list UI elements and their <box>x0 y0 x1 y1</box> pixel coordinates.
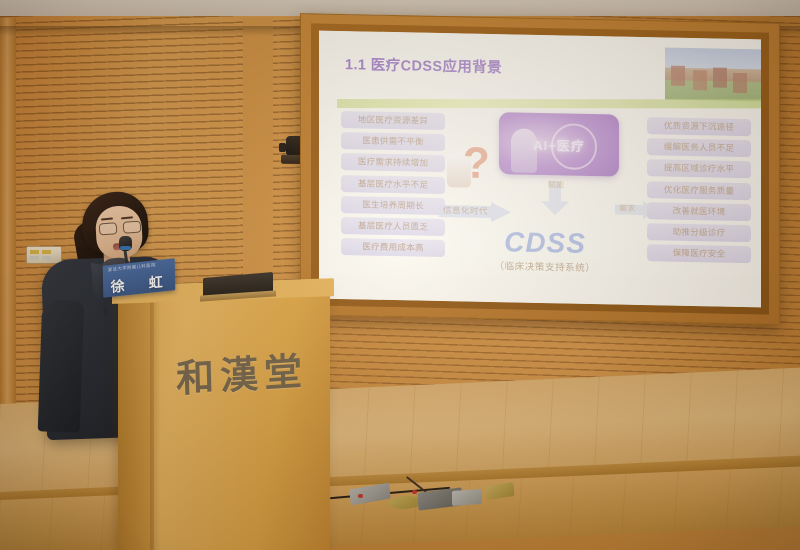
list-item: 基层医疗水平不足 <box>341 175 445 194</box>
microphone-ring <box>120 246 131 250</box>
wall-pillar-left <box>0 18 16 438</box>
list-item: 优化医疗服务质量 <box>647 181 751 200</box>
cdss-subtitle: （临床决策支持系统） <box>445 257 645 275</box>
lecture-hall-photo: 1.1 医疗CDSS应用背景 地区医疗资源差异 医患供需不平衡 医疗需求持续增加… <box>0 0 800 550</box>
arrow-left-label: 信息化时代 <box>443 204 488 217</box>
list-item: 提高区域诊疗水平 <box>647 160 751 179</box>
arrow-left-icon: 信息化时代 <box>439 201 511 222</box>
name-card-affiliation: 复旦大学附属儿科医院 <box>108 262 156 273</box>
projection-screen: 1.1 医疗CDSS应用背景 地区医疗资源差异 医患供需不平衡 医疗需求持续增加… <box>319 31 761 308</box>
speaker-glasses-icon <box>99 221 142 235</box>
list-item: 医患供需不平衡 <box>341 132 445 151</box>
cdss-headline: CDSS <box>445 225 645 261</box>
right-benefit-column: 优质资源下沉途径 缓解医务人员不足 提高区域诊疗水平 优化医疗服务质量 改善就医… <box>647 117 751 267</box>
ai-healthcare-image: AI+医疗 <box>499 112 619 176</box>
lectern-left-face <box>118 296 154 550</box>
presentation-slide: 1.1 医疗CDSS应用背景 地区医疗资源差异 医患供需不平衡 医疗需求持续增加… <box>319 31 761 308</box>
list-item: 地区医疗资源差异 <box>341 111 445 130</box>
left-issue-column: 地区医疗资源差异 医患供需不平衡 医疗需求持续增加 基层医疗水平不足 医生培养周… <box>341 111 445 261</box>
camera-arm-left <box>279 143 286 152</box>
list-item: 改善就医环境 <box>647 202 751 221</box>
hospital-campus-photo <box>665 48 761 102</box>
list-item: 助推分级诊疗 <box>647 223 751 242</box>
list-item: 医生培养周期长 <box>341 196 445 215</box>
lectern-side-shadow <box>150 300 160 550</box>
cable-connector <box>412 490 417 494</box>
venue-calligraphy: 和漢堂 <box>175 340 308 403</box>
wall-outlet-plate <box>26 246 62 264</box>
arrow-down-label: 赋能 <box>539 179 573 191</box>
cable-connector <box>358 494 363 498</box>
floor-equipment-plate <box>452 489 482 506</box>
ai-healthcare-label: AI+医疗 <box>499 134 619 155</box>
slide-center-graphic: ? AI+医疗 信息化时代 需求 赋能 CDSS （临床 <box>445 105 645 299</box>
slide-title: 1.1 医疗CDSS应用背景 <box>345 53 502 77</box>
list-item: 医疗需求持续增加 <box>341 153 445 172</box>
question-mark-icon: ? <box>463 141 490 186</box>
list-item: 基层医疗人员匮乏 <box>341 217 445 236</box>
arrow-right-label: 需求 <box>619 203 635 214</box>
list-item: 缓解医务人员不足 <box>647 138 751 157</box>
speaker-arm <box>38 299 85 432</box>
list-item: 医疗费用成本高 <box>341 238 445 257</box>
projection-screen-frame: 1.1 医疗CDSS应用背景 地区医疗资源差异 医患供需不平衡 医疗需求持续增加… <box>300 13 780 325</box>
list-item: 保障医疗安全 <box>647 244 751 263</box>
list-item: 优质资源下沉途径 <box>647 117 751 136</box>
